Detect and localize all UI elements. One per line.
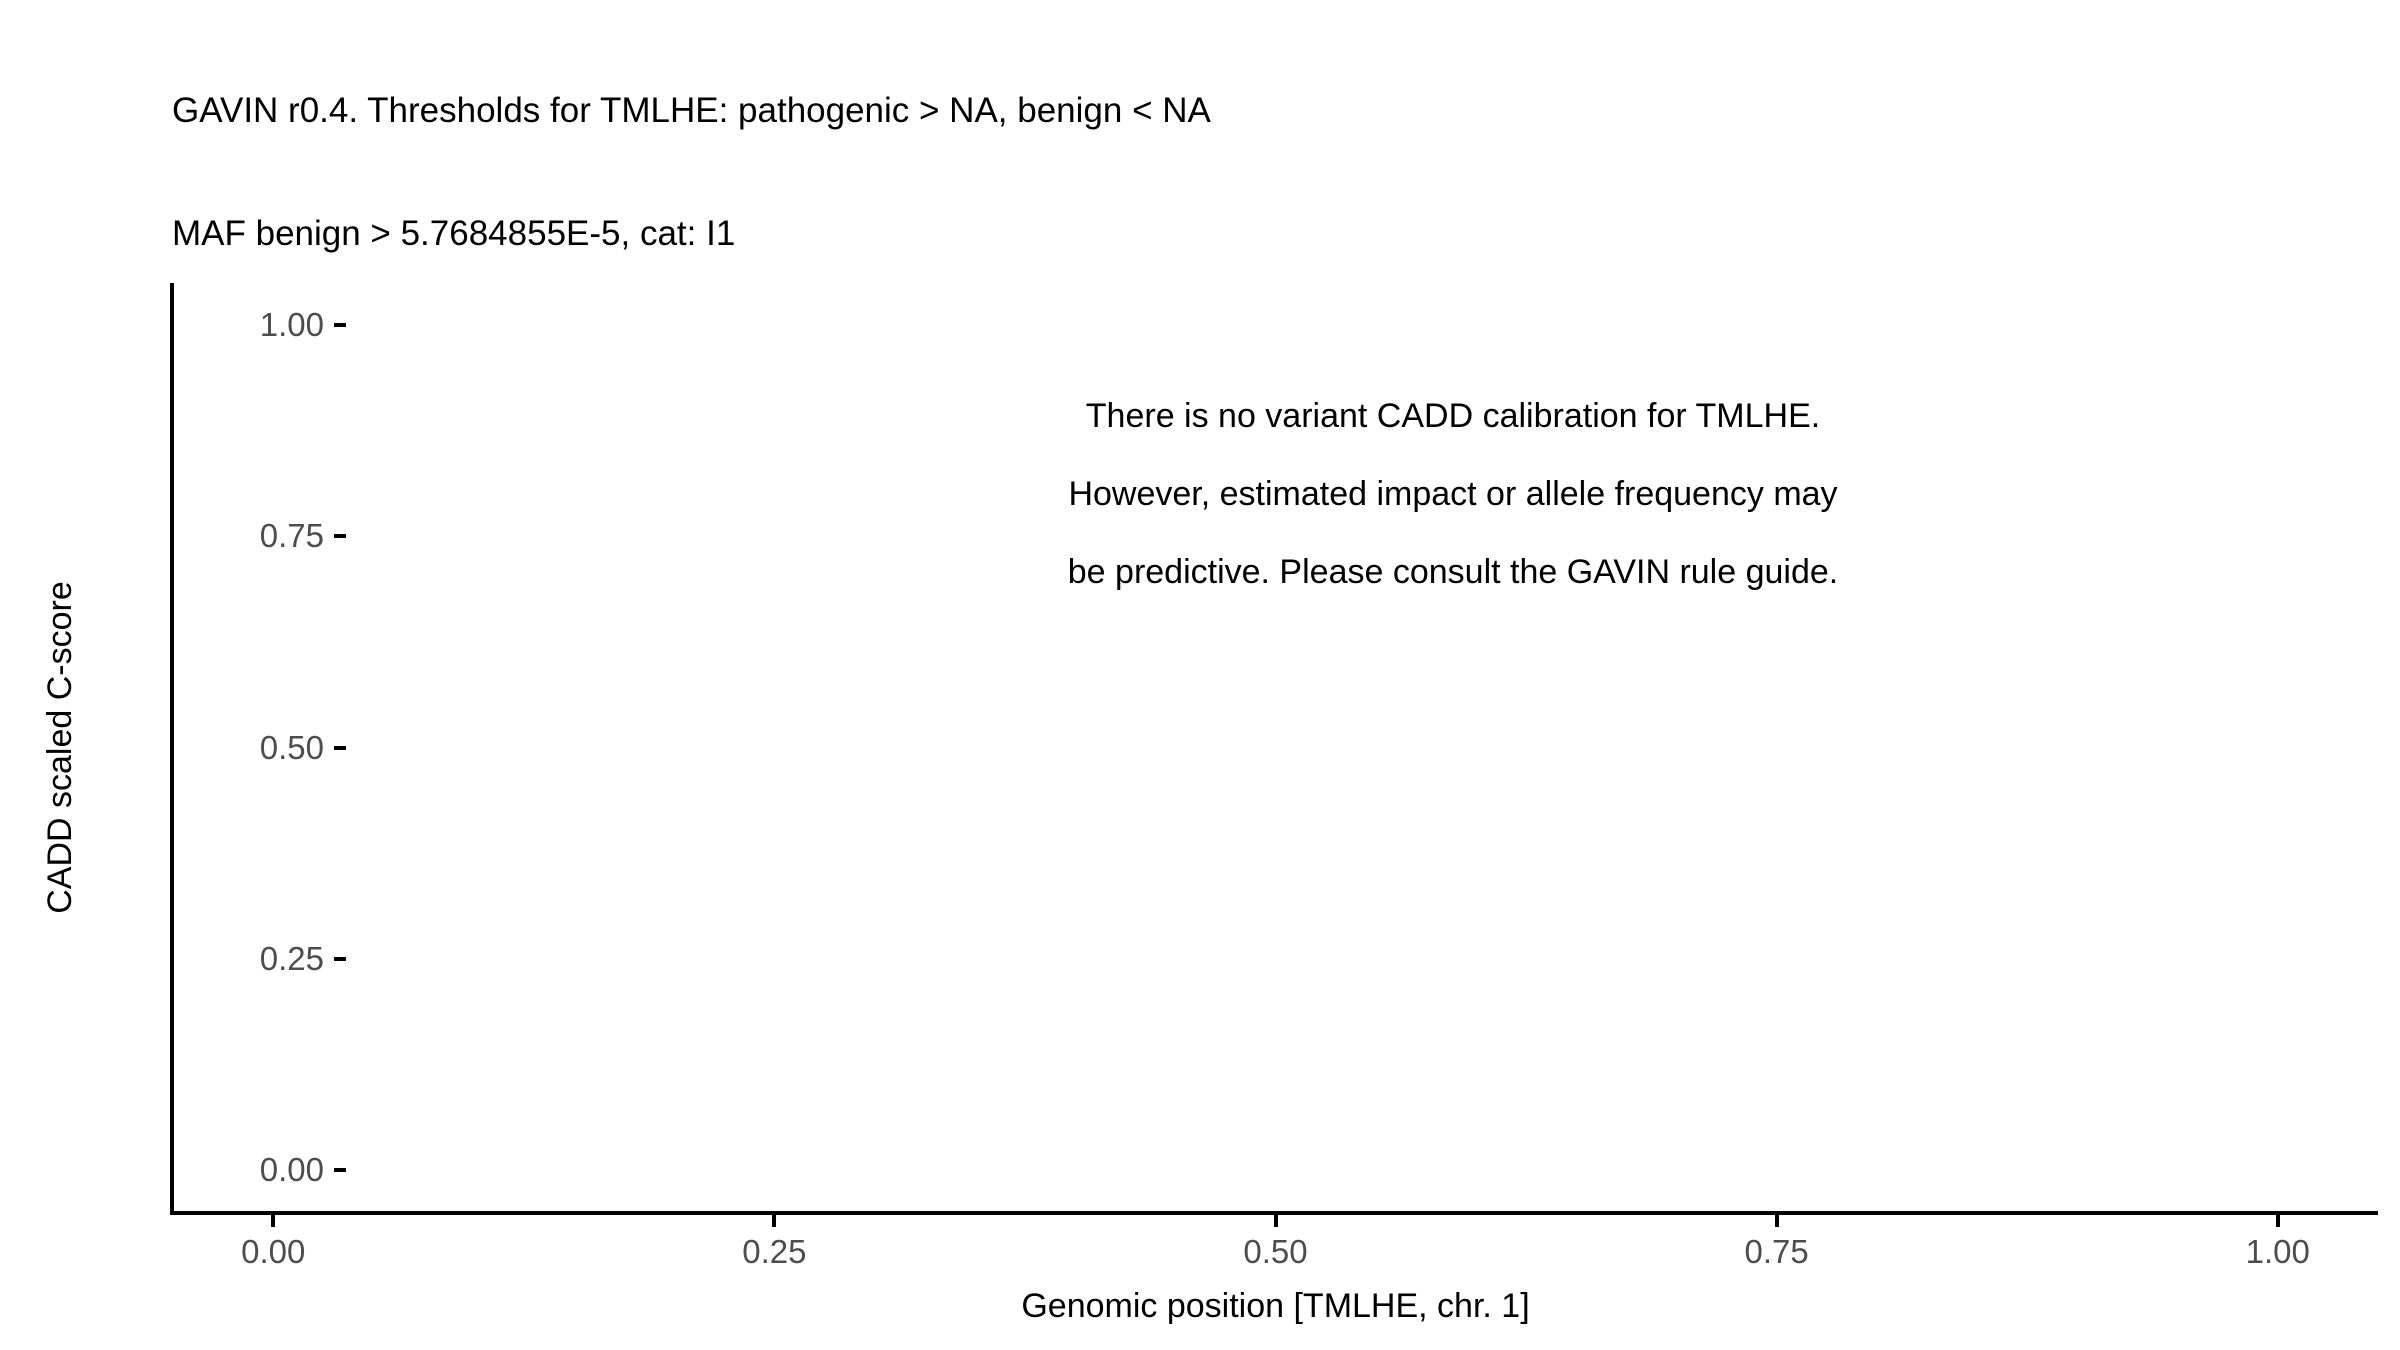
y-axis-tick-label: 0.00 — [260, 1149, 324, 1191]
panel-annotation-line-3: be predictive. Please consult the GAVIN … — [553, 533, 2353, 611]
x-axis-tick-mark — [772, 1215, 776, 1227]
y-axis-tick-label: 0.50 — [260, 727, 324, 769]
x-axis-tick-mark — [271, 1215, 275, 1227]
plot-panel: There is no variant CADD calibration for… — [173, 283, 2378, 1212]
y-axis-tick-label: 0.25 — [260, 938, 324, 980]
chart-title-line-2: MAF benign > 5.7684855E-5, cat: I1 — [172, 213, 2352, 254]
panel-annotation-line-1: There is no variant CADD calibration for… — [553, 377, 2353, 455]
panel-annotation: There is no variant CADD calibration for… — [553, 377, 2353, 611]
x-axis-title: Genomic position [TMLHE, chr. 1] — [173, 1284, 2378, 1328]
chart-title-line-1: GAVIN r0.4. Thresholds for TMLHE: pathog… — [172, 90, 2352, 131]
y-axis-tick-mark — [334, 323, 346, 327]
chart-canvas: GAVIN r0.4. Thresholds for TMLHE: pathog… — [0, 0, 2400, 1350]
x-axis-tick-label: 0.75 — [1657, 1233, 1897, 1271]
x-axis-tick-label: 0.50 — [1156, 1233, 1396, 1271]
x-axis-tick-mark — [2276, 1215, 2280, 1227]
panel-annotation-line-2: However, estimated impact or allele freq… — [553, 455, 2353, 533]
y-axis-tick-mark — [334, 534, 346, 538]
y-axis-tick-label: 0.75 — [260, 515, 324, 557]
y-axis-line — [170, 283, 174, 1215]
x-axis-tick-label: 1.00 — [2158, 1233, 2398, 1271]
x-axis-tick-label: 0.00 — [153, 1233, 393, 1271]
y-axis-tick-mark — [334, 957, 346, 961]
y-axis-tick-mark — [334, 746, 346, 750]
y-axis-tick-label: 1.00 — [260, 304, 324, 346]
x-axis-tick-label: 0.25 — [654, 1233, 894, 1271]
x-axis-tick-mark — [1775, 1215, 1779, 1227]
x-axis-tick-mark — [1274, 1215, 1278, 1227]
y-axis-tick-mark — [334, 1168, 346, 1172]
y-axis-title: CADD scaled C-score — [38, 283, 82, 1212]
